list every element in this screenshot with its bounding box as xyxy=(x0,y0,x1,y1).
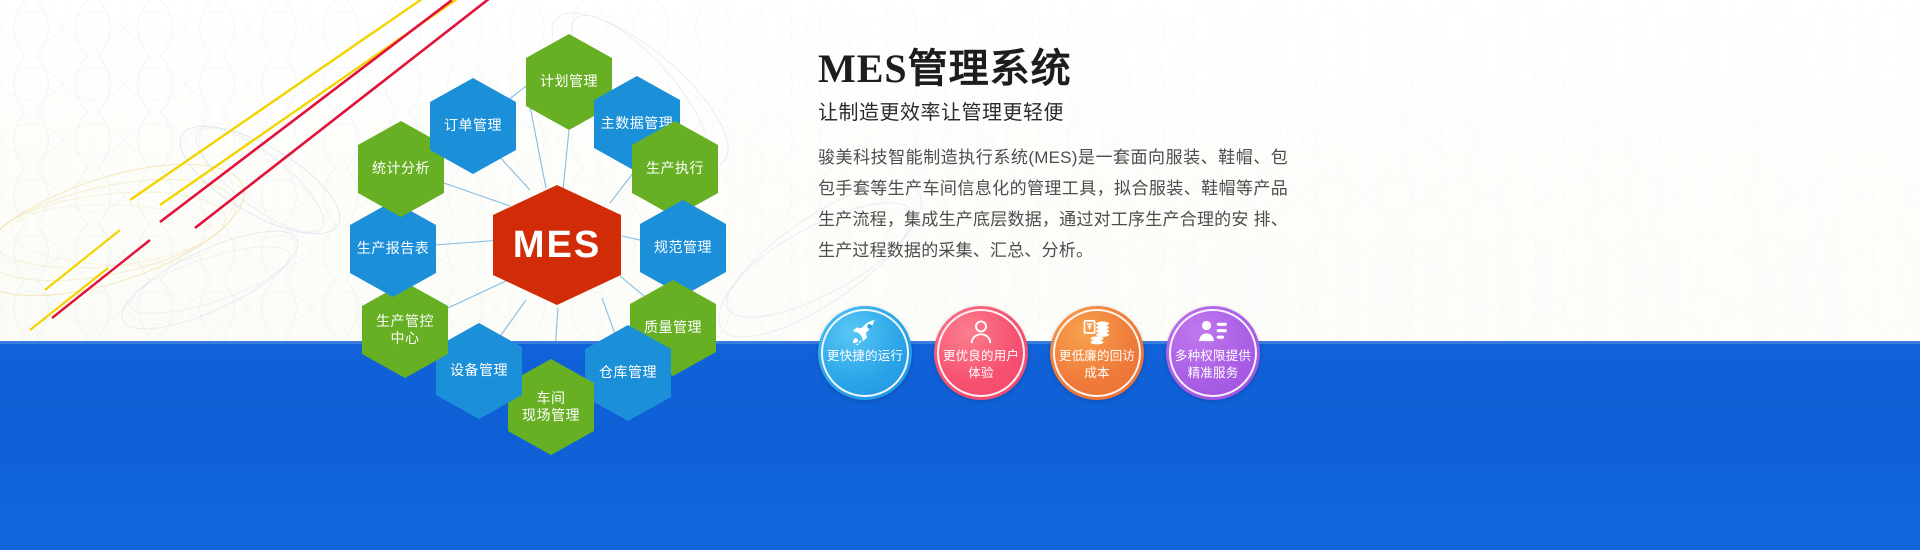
hex-node-label: 统计分析 xyxy=(368,160,434,177)
badge-label-line1: 更快捷的运行 xyxy=(819,348,911,365)
hex-node-label: 计划管理 xyxy=(536,73,602,90)
feature-badge-3[interactable]: 更低廉的回访成本 xyxy=(1050,306,1144,400)
badge-label-line2: 成本 xyxy=(1051,365,1143,382)
hex-node-label: 设备管理 xyxy=(446,362,512,379)
badge-label-line1: 更低廉的回访 xyxy=(1051,348,1143,365)
feature-badge-1[interactable]: 更快捷的运行 xyxy=(818,306,912,400)
hex-node-label: 生产管控中心 xyxy=(372,313,438,347)
hex-node-label: 生产执行 xyxy=(642,160,708,177)
badge-label: 更快捷的运行 xyxy=(819,348,911,365)
permissions-icon xyxy=(1198,319,1228,345)
banner-stage: MES 计划管理主数据管理生产执行规范管理质量管理仓库管理车间现场管理设备管理生… xyxy=(0,0,1920,550)
hex-node-label: 车间现场管理 xyxy=(518,390,584,424)
feature-badge-4[interactable]: 多种权限提供精准服务 xyxy=(1166,306,1260,400)
banner-text-block: MES管理系统 让制造更效率让管理更轻便 骏美科技智能制造执行系统(MES)是一… xyxy=(818,48,1288,267)
hex-node-label: 订单管理 xyxy=(440,117,506,134)
badge-label-line2: 体验 xyxy=(935,365,1027,382)
hex-node-label: 规范管理 xyxy=(650,239,716,256)
page-subtitle: 让制造更效率让管理更轻便 xyxy=(818,96,1288,125)
hex-node-label: 仓库管理 xyxy=(595,364,661,381)
badge-label: 多种权限提供精准服务 xyxy=(1167,348,1259,382)
hex-node-label: 质量管理 xyxy=(640,319,706,336)
page-description: 骏美科技智能制造执行系统(MES)是一套面向服装、鞋帽、包包手套等生产车间信息化… xyxy=(818,143,1288,267)
badge-label-line2: 精准服务 xyxy=(1167,365,1259,382)
badge-label-line1: 更优良的用户 xyxy=(935,348,1027,365)
badge-label: 更优良的用户体验 xyxy=(935,348,1027,382)
badge-label-line1: 多种权限提供 xyxy=(1167,348,1259,365)
hex-center-label: MES xyxy=(509,222,605,268)
rocket-icon xyxy=(850,319,880,345)
feature-badge-2[interactable]: 更优良的用户体验 xyxy=(934,306,1028,400)
user-icon xyxy=(968,319,994,345)
feature-badge-row: 更快捷的运行更优良的用户体验更低廉的回访成本多种权限提供精准服务 xyxy=(818,306,1278,406)
page-title: MES管理系统 xyxy=(818,48,1288,90)
badge-label: 更低廉的回访成本 xyxy=(1051,348,1143,382)
hex-node-label: 生产报告表 xyxy=(353,240,434,257)
coin-stack-icon xyxy=(1083,319,1111,345)
